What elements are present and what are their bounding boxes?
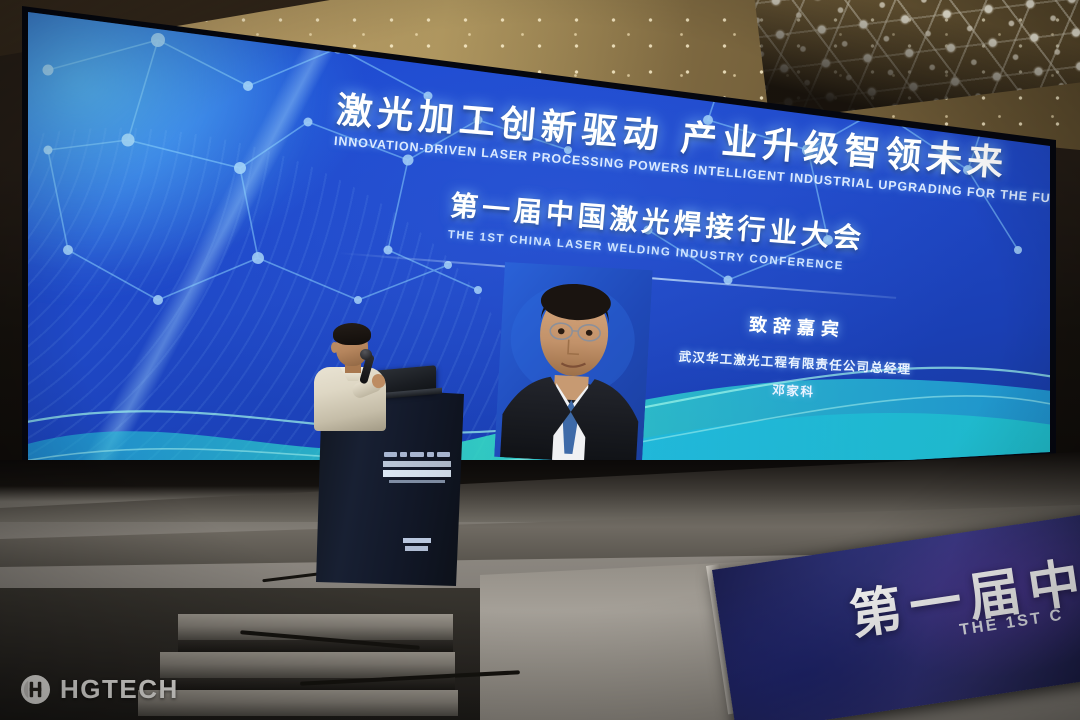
hgtech-brand-text: HGTECH [60, 674, 179, 705]
podium-title-line-1 [383, 461, 451, 467]
conference-photo-scene: 激光加工创新驱动 产业升级智领未来 INNOVATION-DRIVEN LASE… [0, 0, 1080, 720]
hgtech-circle-h-logo [20, 674, 51, 705]
step-tread-3 [138, 690, 458, 716]
stage-steps [178, 614, 453, 720]
podium-logo-3 [410, 452, 423, 457]
podium-logo-4 [427, 452, 434, 457]
speaker-ear [331, 342, 338, 353]
podium-logo-1 [384, 452, 397, 457]
speaker-person [300, 318, 410, 428]
podium-sponsor-logos [384, 451, 450, 458]
podium-logo-2 [400, 452, 407, 457]
podium-subtitle-line [389, 480, 445, 483]
podium-bottom-mark-1 [403, 538, 431, 543]
speaker-hair [333, 323, 371, 345]
podium-logo-5 [437, 452, 450, 457]
podium-title-line-2 [383, 470, 451, 477]
step-tread-2 [160, 652, 455, 678]
podium-bottom-mark-2 [405, 546, 428, 551]
hgtech-watermark: HGTECH [20, 672, 179, 706]
